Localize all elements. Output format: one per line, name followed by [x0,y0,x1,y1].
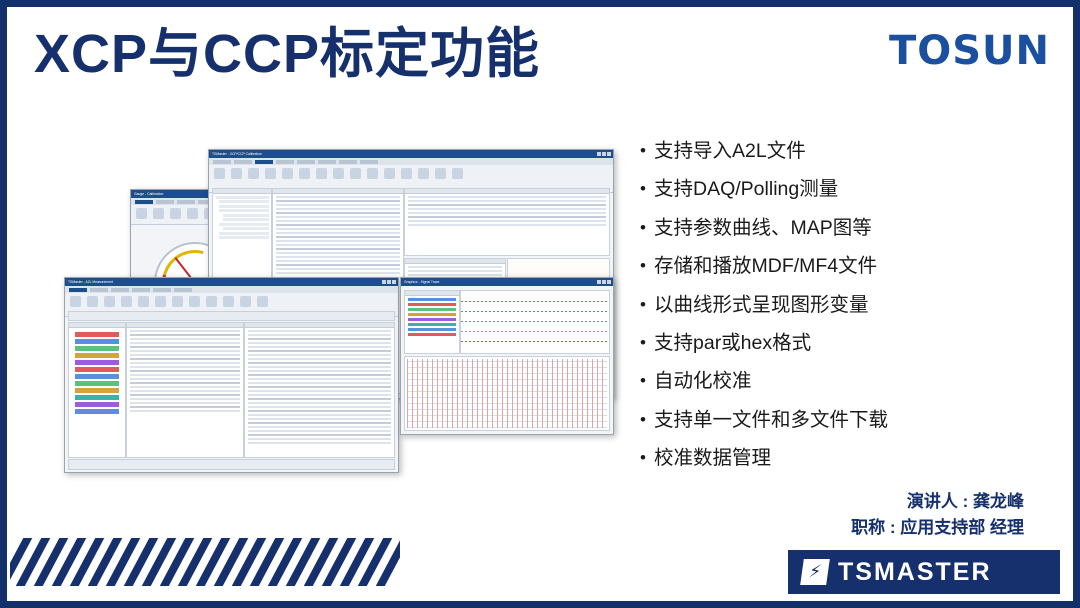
list-item: • 自动化校准 [640,370,1060,393]
list-item-label: 支持导入A2L文件 [654,140,1060,163]
bullet-marker-icon: • [640,255,654,277]
maximize-icon[interactable] [602,280,606,284]
list-item: • 存储和播放MDF/MF4文件 [640,255,1060,278]
decorative-stripes [10,538,400,586]
tsmaster-label: TSMASTER [838,558,992,587]
tsmaster-logo-icon: ⚡ [800,559,830,585]
list-item: • 以曲线形式呈现图形变量 [640,294,1060,317]
minimize-icon[interactable] [382,280,386,284]
list-item-label: 以曲线形式呈现图形变量 [654,294,1060,317]
window-title: TSMaster - A2L Measurement [65,280,381,284]
window-titlebar: TSMaster - XCP/CCP Calibration [209,150,613,158]
trace-legend-panel[interactable] [404,290,460,354]
list-item-label: 自动化校准 [654,370,1060,393]
slide-border-right [1073,0,1080,608]
ribbon-icons[interactable] [65,293,398,310]
bullet-marker-icon: • [640,178,654,200]
filter-toolbar[interactable] [68,311,395,321]
close-icon[interactable] [607,280,611,284]
ribbon-icons[interactable] [209,165,613,182]
calibration-grid-panel[interactable] [404,188,610,256]
signal-color-list[interactable] [68,322,126,458]
page-title: XCP与CCP标定功能 [34,22,540,87]
window-titlebar: Graphics - Signal Trace [401,278,613,286]
minimize-icon[interactable] [597,280,601,284]
bullet-marker-icon: • [640,447,654,469]
close-icon[interactable] [392,280,396,284]
list-item-label: 支持DAQ/Polling测量 [654,178,1060,201]
window-titlebar: TSMaster - A2L Measurement [65,278,398,286]
waveform-chart[interactable] [460,290,610,354]
slide-border-top [0,0,1080,7]
speaker-presenter: 演讲人 : 龚龙峰 [851,489,1024,515]
maximize-icon[interactable] [387,280,391,284]
a2l-object-grid[interactable] [244,322,395,458]
list-item: • 支持导入A2L文件 [640,140,1060,163]
window-title: TSMaster - XCP/CCP Calibration [209,152,596,156]
bullet-marker-icon: • [640,332,654,354]
screenshot-window-measurement[interactable]: TSMaster - A2L Measurement [64,277,399,473]
screenshot-collage: Gauge - Calibration TSMaster - [52,143,612,473]
speaker-position: 职称 : 应用支持部 经理 [851,515,1024,541]
list-item: • 支持par或hex格式 [640,332,1060,355]
bullet-marker-icon: • [640,370,654,392]
variable-table[interactable] [126,322,244,458]
bullet-marker-icon: • [640,409,654,431]
speaker-info: 演讲人 : 龚龙峰 职称 : 应用支持部 经理 [851,489,1024,542]
bottom-tab-strip[interactable] [68,459,395,470]
slide-root: XCP与CCP标定功能 TOSUN Gauge - Calibration [0,0,1080,608]
ribbon-tabs[interactable] [209,158,613,165]
screenshot-window-graphics[interactable]: Graphics - Signal Trace [400,277,614,435]
signal-matrix-panel[interactable] [404,356,610,431]
maximize-icon[interactable] [602,152,606,156]
bullet-marker-icon: • [640,217,654,239]
tosun-logo: TOSUN [889,28,1050,74]
tsmaster-badge: ⚡ TSMASTER [788,550,1060,594]
feature-bullet-list: • 支持导入A2L文件 • 支持DAQ/Polling测量 • 支持参数曲线、M… [640,140,1060,486]
list-item: • 支持单一文件和多文件下载 [640,409,1060,432]
list-item-label: 支持par或hex格式 [654,332,1060,355]
bullet-marker-icon: • [640,140,654,162]
list-item-label: 存储和播放MDF/MF4文件 [654,255,1060,278]
list-item: • 校准数据管理 [640,447,1060,470]
list-item: • 支持DAQ/Polling测量 [640,178,1060,201]
list-item: • 支持参数曲线、MAP图等 [640,217,1060,240]
minimize-icon[interactable] [597,152,601,156]
slide-border-bottom [0,601,1080,608]
ribbon-tabs[interactable] [65,286,398,293]
bullet-marker-icon: • [640,294,654,316]
list-item-label: 校准数据管理 [654,447,1060,470]
list-item-label: 支持参数曲线、MAP图等 [654,217,1060,240]
slide-border-left [0,0,7,608]
window-title: Graphics - Signal Trace [401,280,596,284]
close-icon[interactable] [607,152,611,156]
list-item-label: 支持单一文件和多文件下载 [654,409,1060,432]
